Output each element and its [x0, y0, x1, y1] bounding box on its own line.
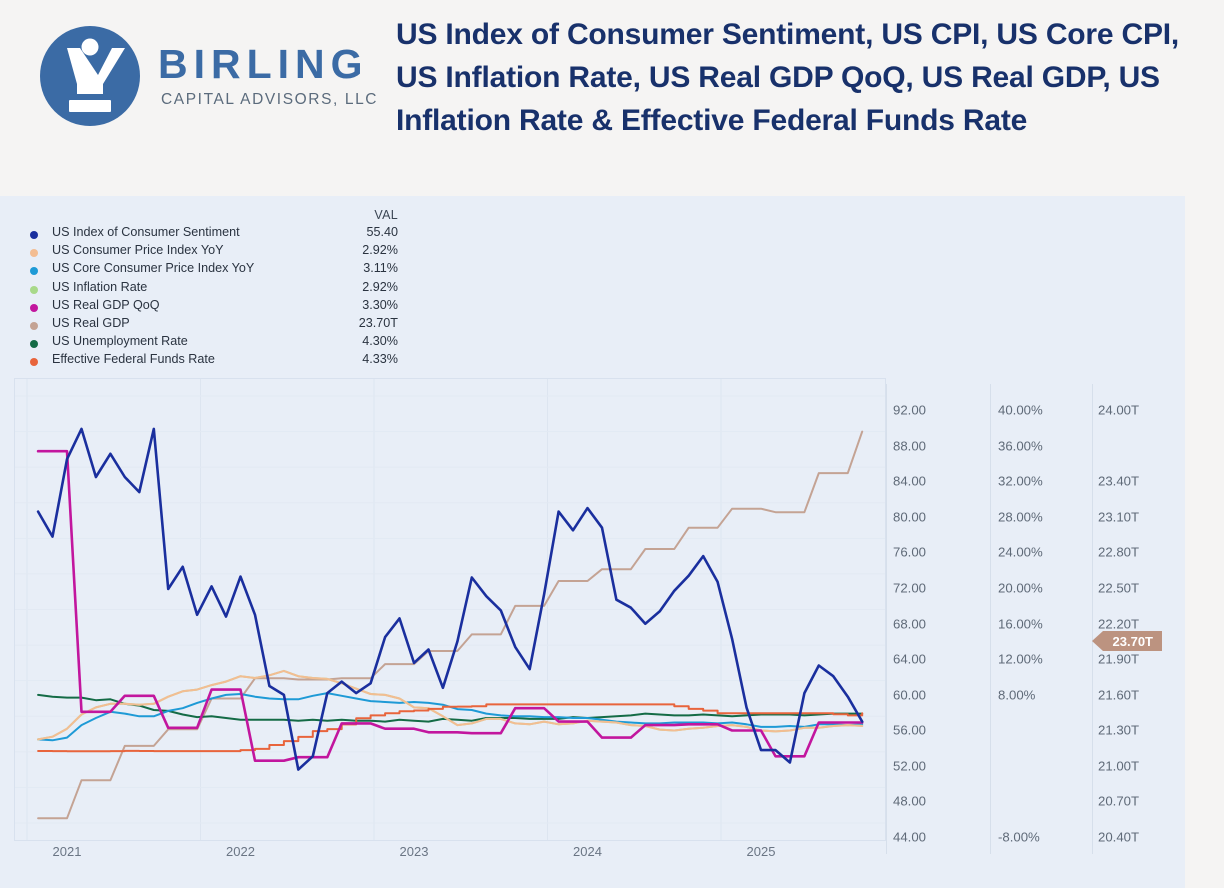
y-axis-tick: 48.00: [893, 794, 926, 809]
legend-item[interactable]: Effective Federal Funds Rate4.33%: [18, 352, 398, 370]
legend-item-label: US Consumer Price Index YoY: [52, 243, 224, 257]
y-axis-tick: 16.00%: [998, 616, 1043, 631]
axis-divider-3: [1092, 384, 1093, 854]
y-axis-tick: 36.00%: [998, 438, 1043, 453]
x-axis-tick: 2023: [400, 844, 429, 859]
y-axis-tick: 44.00: [893, 830, 926, 845]
legend-item-value: 23.70T: [359, 316, 398, 330]
legend-color-dot: [30, 322, 38, 330]
y-axis-tick: 72.00: [893, 580, 926, 595]
plot-area: [14, 378, 886, 841]
y-axis-tick: 23.10T: [1098, 509, 1139, 524]
brand-tagline: CAPITAL ADVISORS, LLC: [161, 92, 378, 108]
gdp-value-flag: 23.70T: [1092, 631, 1162, 651]
y-axis-tick: 28.00%: [998, 509, 1043, 524]
legend-item-label: US Real GDP: [52, 316, 130, 330]
legend-item-label: US Unemployment Rate: [52, 334, 188, 348]
chart-panel: VAL US Index of Consumer Sentiment55.40U…: [0, 196, 1185, 888]
grid-lines: [14, 378, 886, 841]
y-axis-tick: 22.50T: [1098, 580, 1139, 595]
y-axis-tick: 24.00%: [998, 545, 1043, 560]
axis-divider-1: [886, 384, 887, 854]
y-axis-tick: 21.00T: [1098, 758, 1139, 773]
legend-item[interactable]: US Real GDP QoQ3.30%: [18, 298, 398, 316]
legend-item[interactable]: US Inflation Rate2.92%: [18, 280, 398, 298]
y-axis-tick: 84.00: [893, 474, 926, 489]
y-axis-tick: 24.00T: [1098, 403, 1139, 418]
legend-item[interactable]: US Core Consumer Price Index YoY3.11%: [18, 261, 398, 279]
y-axis-tick: -8.00%: [998, 830, 1040, 845]
legend-item-value: 3.30%: [362, 298, 398, 312]
y-axis-tick: 12.00%: [998, 652, 1043, 667]
chart-lines: [14, 378, 886, 841]
y-axis-tick: 8.00%: [998, 687, 1035, 702]
x-axis-tick: 2025: [747, 844, 776, 859]
legend-item-value: 2.92%: [362, 280, 398, 294]
y-axis-tick: 22.20T: [1098, 616, 1139, 631]
axis-divider-2: [990, 384, 991, 854]
x-axis-tick: 2021: [53, 844, 82, 859]
y-axis-tick: 64.00: [893, 652, 926, 667]
chart-page: BIRLING CAPITAL ADVISORS, LLC US Index o…: [0, 0, 1224, 888]
y-axis-tick: 21.30T: [1098, 723, 1139, 738]
legend-color-dot: [30, 286, 38, 294]
legend-color-dot: [30, 231, 38, 239]
legend-item-value: 55.40: [366, 225, 398, 239]
y-axis-tick: 80.00: [893, 509, 926, 524]
legend-value-header: VAL: [374, 208, 398, 222]
x-axis-tick: 2022: [226, 844, 255, 859]
legend-color-dot: [30, 304, 38, 312]
y-axis-tick: 32.00%: [998, 474, 1043, 489]
y-axis-tick: 23.40T: [1098, 474, 1139, 489]
legend-color-dot: [30, 267, 38, 275]
y-axis-tick: 88.00: [893, 438, 926, 453]
footer-note: [8, 877, 11, 888]
y-axis-tick: 22.80T: [1098, 545, 1139, 560]
y-axis-tick: 40.00%: [998, 403, 1043, 418]
legend-item-value: 4.30%: [362, 334, 398, 348]
legend-item-value: 4.33%: [362, 352, 398, 366]
legend-color-dot: [30, 249, 38, 257]
y-axis-tick: 21.60T: [1098, 687, 1139, 702]
legend-item-label: Effective Federal Funds Rate: [52, 352, 215, 366]
y-axis-tick: 20.00%: [998, 580, 1043, 595]
legend-item-label: US Index of Consumer Sentiment: [52, 225, 240, 239]
birling-figure-logo-icon: [36, 22, 144, 130]
legend-header-row: VAL: [18, 208, 398, 225]
chart-legend: VAL US Index of Consumer Sentiment55.40U…: [18, 208, 398, 371]
page-header: BIRLING CAPITAL ADVISORS, LLC US Index o…: [0, 0, 1224, 196]
brand-name: BIRLING: [158, 44, 378, 85]
legend-color-dot: [30, 358, 38, 366]
y-axis-tick: 56.00: [893, 723, 926, 738]
legend-color-dot: [30, 340, 38, 348]
legend-item[interactable]: US Real GDP23.70T: [18, 316, 398, 334]
brand-logo: BIRLING CAPITAL ADVISORS, LLC: [36, 22, 378, 130]
y-axis-tick: 92.00: [893, 403, 926, 418]
legend-item[interactable]: US Index of Consumer Sentiment55.40: [18, 225, 398, 243]
legend-item-label: US Inflation Rate: [52, 280, 147, 294]
legend-item[interactable]: US Unemployment Rate4.30%: [18, 334, 398, 352]
x-axis: 20212022202320242025: [14, 844, 886, 868]
legend-item-value: 2.92%: [362, 243, 398, 257]
page-title: US Index of Consumer Sentiment, US CPI, …: [396, 14, 1186, 143]
series-line: [38, 671, 862, 740]
y-axis-tick: 60.00: [893, 687, 926, 702]
series-line: [38, 432, 862, 819]
y-axis-tick: 20.70T: [1098, 794, 1139, 809]
x-axis-tick: 2024: [573, 844, 602, 859]
legend-item[interactable]: US Consumer Price Index YoY2.92%: [18, 243, 398, 261]
y-axis-tick: 21.90T: [1098, 652, 1139, 667]
legend-item-label: US Real GDP QoQ: [52, 298, 160, 312]
series-line: [38, 671, 862, 740]
legend-item-value: 3.11%: [363, 261, 398, 275]
y-axis-tick: 20.40T: [1098, 830, 1139, 845]
y-axis-tick: 68.00: [893, 616, 926, 631]
y-axis-tick: 52.00: [893, 758, 926, 773]
y-axis-tick: 76.00: [893, 545, 926, 560]
legend-item-label: US Core Consumer Price Index YoY: [52, 261, 254, 275]
